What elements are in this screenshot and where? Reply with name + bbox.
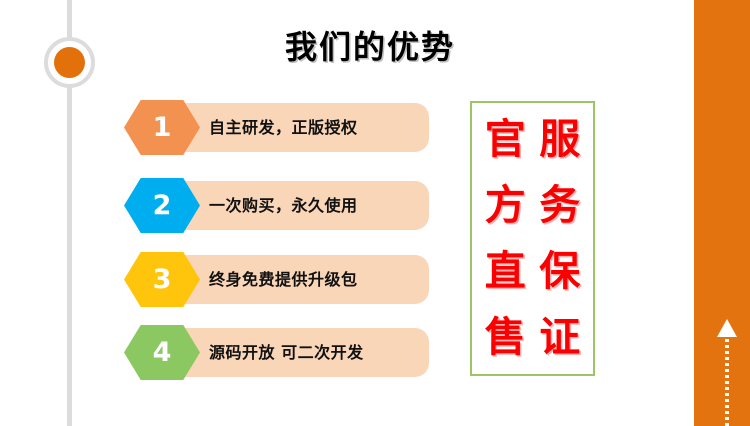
- slide-canvas: 我们的优势 1 自主研发，正版授权 2 一次购买，永久使用 3 终身免费提供升级…: [0, 0, 750, 426]
- slogan-char-fang: 方: [485, 185, 526, 226]
- slogan-column-right: 服 务 保 证: [539, 107, 580, 370]
- timeline-node-dot-icon: [54, 47, 85, 78]
- slogan-char-guan: 官: [485, 119, 526, 160]
- slogan-char-bao: 保: [539, 251, 580, 292]
- up-arrow-icon: [717, 319, 737, 337]
- right-accent-bar: [694, 0, 750, 426]
- advantage-number-3: 3: [124, 252, 200, 307]
- up-arrow-stem-icon: [725, 339, 729, 426]
- slogan-column-left: 官 方 直 售: [485, 107, 526, 370]
- advantage-text-4: 源码开放 可二次开发: [209, 328, 364, 377]
- slogan-char-zhi: 直: [485, 251, 526, 292]
- page-title: 我们的优势: [190, 22, 550, 68]
- advantage-text-1: 自主研发，正版授权: [209, 103, 358, 152]
- advantage-text-3: 终身免费提供升级包: [209, 255, 358, 304]
- advantage-number-4: 4: [124, 325, 200, 380]
- slogan-panel: 官 方 直 售 服 务 保 证: [470, 101, 595, 376]
- advantage-number-2: 2: [124, 178, 200, 233]
- slogan-char-fu: 服: [539, 119, 580, 160]
- advantage-number-1: 1: [124, 100, 200, 155]
- slogan-char-shou: 售: [485, 317, 526, 358]
- slogan-char-zheng: 证: [539, 317, 580, 358]
- slogan-char-wu: 务: [539, 185, 580, 226]
- advantage-text-2: 一次购买，永久使用: [209, 181, 358, 230]
